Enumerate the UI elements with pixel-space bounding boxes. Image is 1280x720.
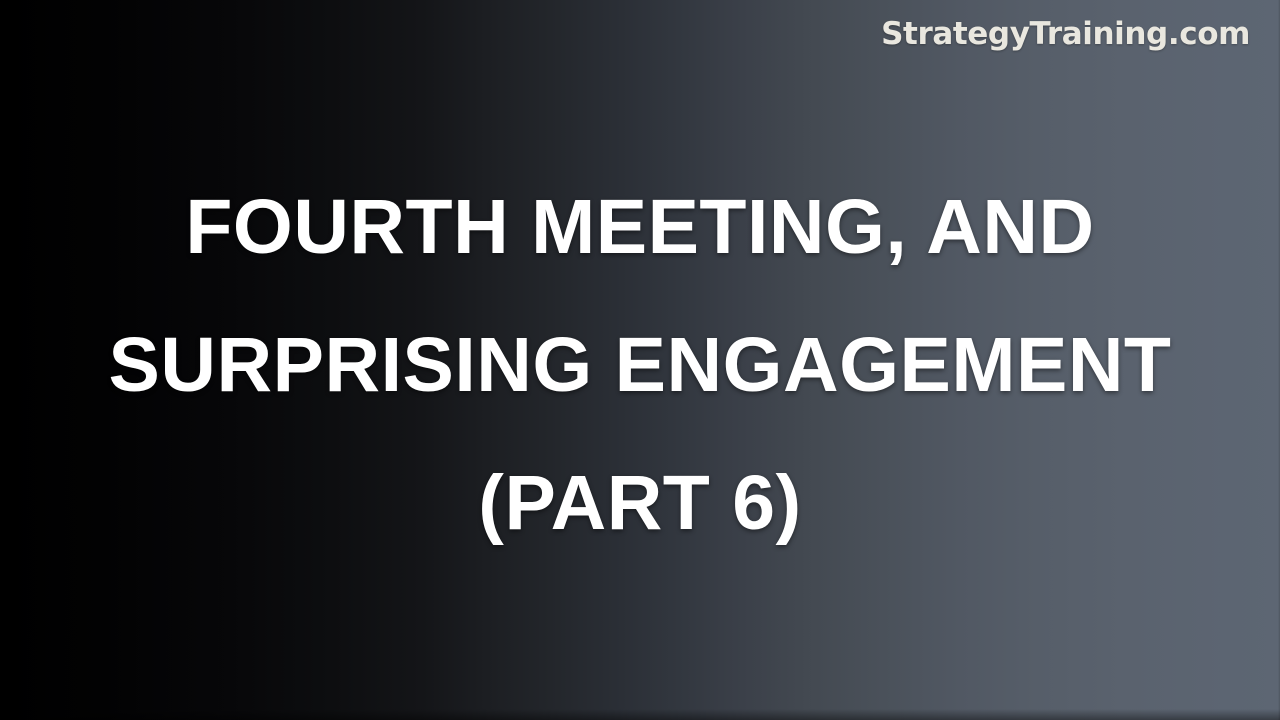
brand-logo-strategytraining: StrategyTraining.com: [881, 17, 1250, 53]
title-line-1: FOURTH MEETING, AND: [0, 158, 1280, 296]
title-line-2: SURPRISING ENGAGEMENT: [0, 296, 1280, 434]
title-line-3: (PART 6): [0, 434, 1280, 572]
slide-title-block: FOURTH MEETING, AND SURPRISING ENGAGEMEN…: [0, 158, 1280, 572]
title-slide: StrategyTraining.com FOURTH MEETING, AND…: [0, 0, 1280, 720]
